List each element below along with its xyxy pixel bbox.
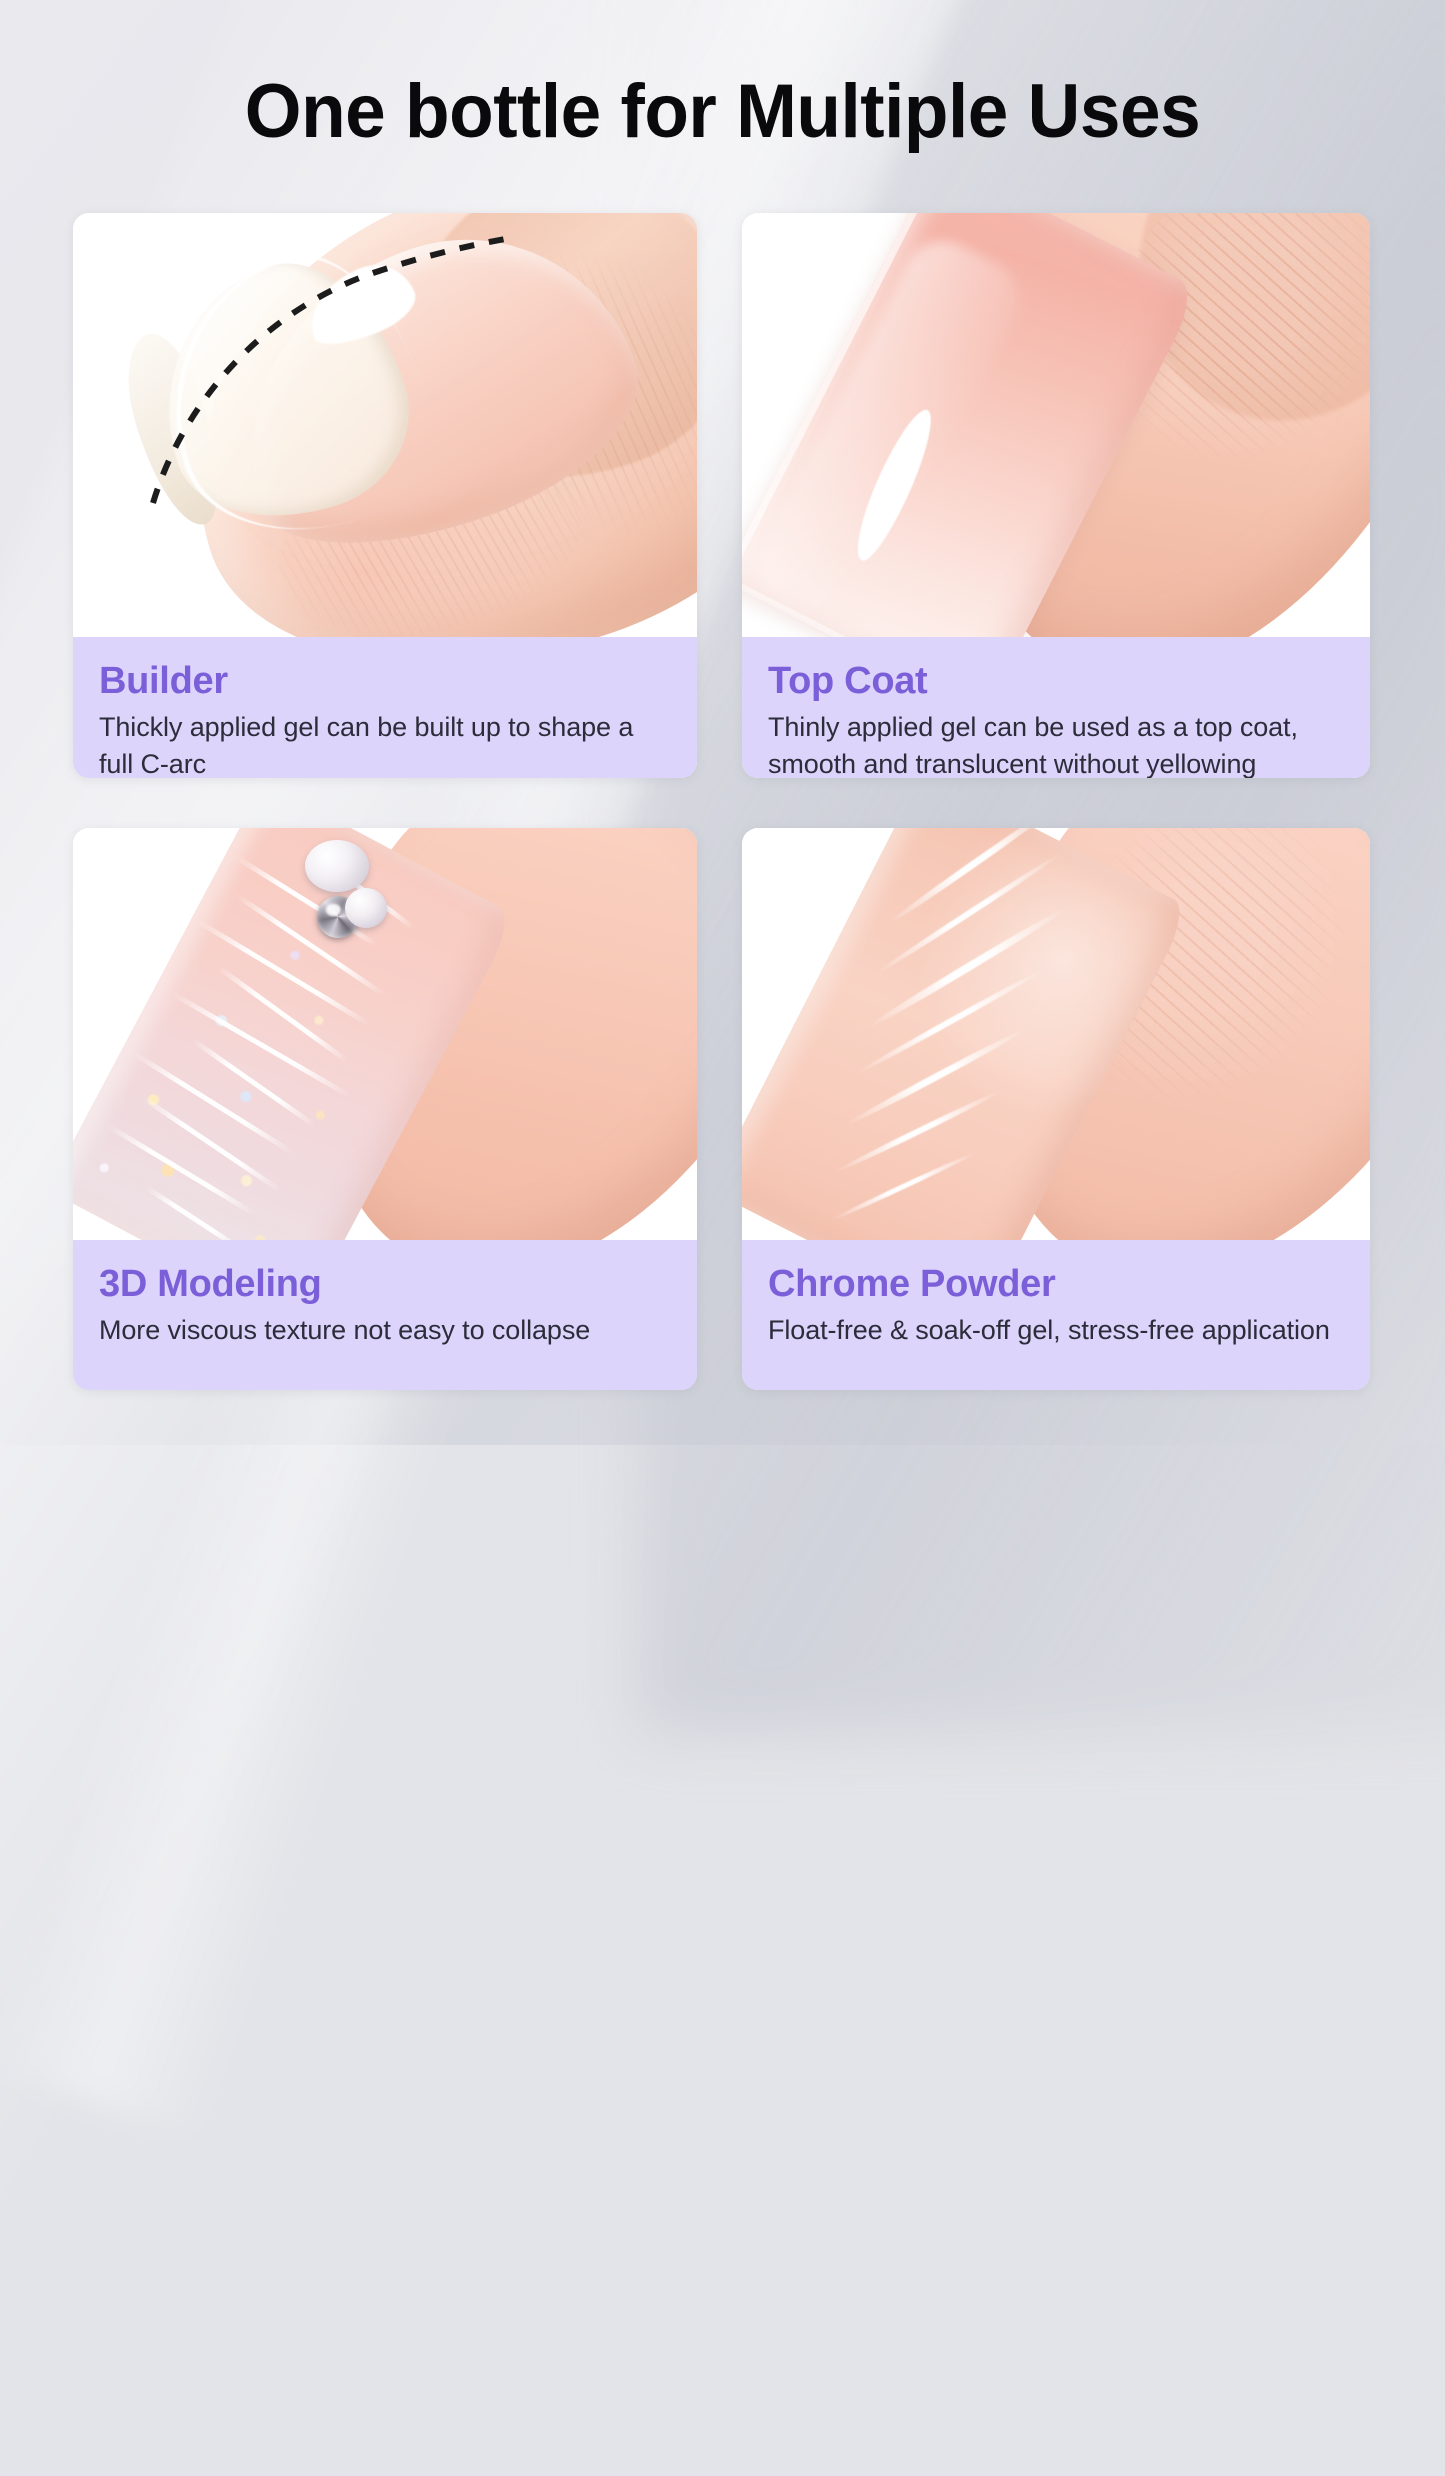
- chrome-photo: [742, 828, 1370, 1240]
- top-coat-caption: Top Coat Thinly applied gel can be used …: [742, 637, 1370, 778]
- modeling-caption: 3D Modeling More viscous texture not eas…: [73, 1240, 697, 1390]
- chrome-caption: Chrome Powder Float-free & soak-off gel,…: [742, 1240, 1370, 1390]
- feature-card-3d-modeling[interactable]: 3D Modeling More viscous texture not eas…: [73, 828, 697, 1390]
- feature-card-top-coat[interactable]: Top Coat Thinly applied gel can be used …: [742, 213, 1370, 778]
- feature-card-grid: Builder Thickly applied gel can be built…: [73, 213, 1370, 1390]
- pearl-large: [305, 840, 369, 892]
- modeling-title: 3D Modeling: [99, 1262, 671, 1306]
- dashed-c-arc-guide-icon: [73, 213, 697, 637]
- chrome-description: Float-free & soak-off gel, stress-free a…: [768, 1312, 1344, 1349]
- builder-title: Builder: [99, 659, 671, 703]
- feature-card-builder[interactable]: Builder Thickly applied gel can be built…: [73, 213, 697, 778]
- top-coat-photo: [742, 213, 1370, 637]
- builder-description: Thickly applied gel can be built up to s…: [99, 709, 671, 778]
- chrome-illustration: [742, 828, 1370, 1240]
- modeling-illustration: [73, 828, 697, 1240]
- top-coat-illustration: [742, 213, 1370, 637]
- modeling-photo: [73, 828, 697, 1240]
- builder-photo: [73, 213, 697, 637]
- builder-caption: Builder Thickly applied gel can be built…: [73, 637, 697, 778]
- page-title: One bottle for Multiple Uses: [29, 70, 1416, 154]
- builder-illustration: [73, 213, 697, 637]
- top-coat-description: Thinly applied gel can be used as a top …: [768, 709, 1344, 778]
- feature-card-chrome-powder[interactable]: Chrome Powder Float-free & soak-off gel,…: [742, 828, 1370, 1390]
- modeling-description: More viscous texture not easy to collaps…: [99, 1312, 671, 1349]
- top-coat-title: Top Coat: [768, 659, 1344, 703]
- chrome-title: Chrome Powder: [768, 1262, 1344, 1306]
- pearl-small: [345, 888, 387, 928]
